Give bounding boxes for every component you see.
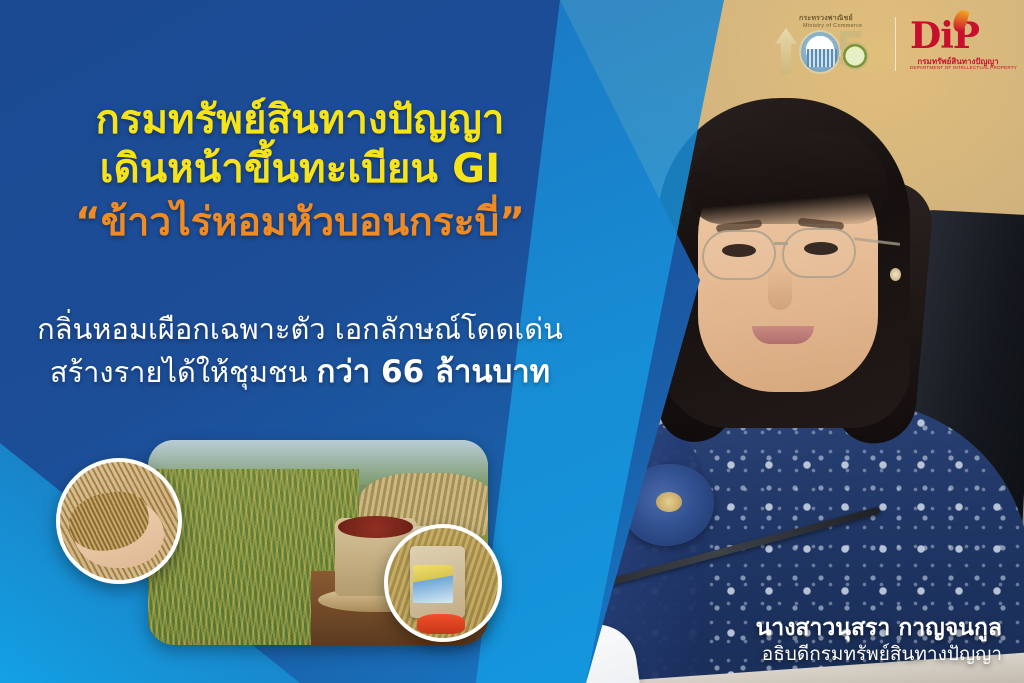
headline-line-2: เดินหน้าขึ้นทะเบียน GI [0,145,600,194]
photo-red-ribbon [417,614,465,634]
subtitle-block: กลิ่นหอมเผือกเฉพาะตัว เอกลักษณ์โดดเด่น ส… [0,308,600,395]
glasses-bridge [774,242,788,245]
speaker-name: นางสาวนุสรา กาญจนกูล [756,614,1002,643]
headline-product-quote: “ข้าวไร่หอมหัวบอนกระบี่” [0,194,600,253]
ministry-of-commerce-105-logo: กระทรวงพาณิชย์ Ministry of Commerce 5 [773,12,881,76]
speaker-caption: นางสาวนุสรา กาญจนกูล อธิบดีกรมทรัพย์สินท… [756,614,1002,667]
product-photo-circle-right [384,524,502,642]
product-photo-circle-left [56,458,182,584]
logo-bar: กระทรวงพาณิชย์ Ministry of Commerce 5 Di… [773,12,1006,76]
poster-canvas: กรมทรัพย์สินทางปัญญา เดินหน้าขึ้นทะเบียน… [0,0,1024,683]
earring [890,268,901,281]
anniversary-digit-one-icon [775,28,797,74]
ministry-seal-icon [841,42,869,70]
hair-fringe [688,132,888,224]
headline-line-1: กรมทรัพย์สินทางปัญญา [0,96,600,145]
headline-block: กรมทรัพย์สินทางปัญญา เดินหน้าขึ้นทะเบียน… [0,96,600,252]
subtitle-line-1: กลิ่นหอมเผือกเฉพาะตัว เอกลักษณ์โดดเด่น [0,308,600,350]
dip-logo: DiP กรมทรัพย์สินทางปัญญา DEPARTMENT OF I… [910,13,1006,75]
subtitle-line-2-prefix: สร้างรายได้ให้ชุมชน [50,355,317,389]
photo-package-label [413,565,453,602]
subtitle-line-2: สร้างรายได้ให้ชุมชน กว่า 66 ล้านบาท [0,350,600,395]
glasses-lens-left [702,230,776,280]
mouth [752,326,814,344]
subtitle-line-2-amount: กว่า 66 ล้านบาท [317,354,550,390]
speaker-role: อธิบดีกรมทรัพย์สินทางปัญญา [756,642,1002,667]
nose [768,268,792,310]
glasses-lens-right [782,228,856,278]
dip-english-name: DEPARTMENT OF INTELLECTUAL PROPERTY [910,65,1006,70]
logo-divider [895,17,896,71]
